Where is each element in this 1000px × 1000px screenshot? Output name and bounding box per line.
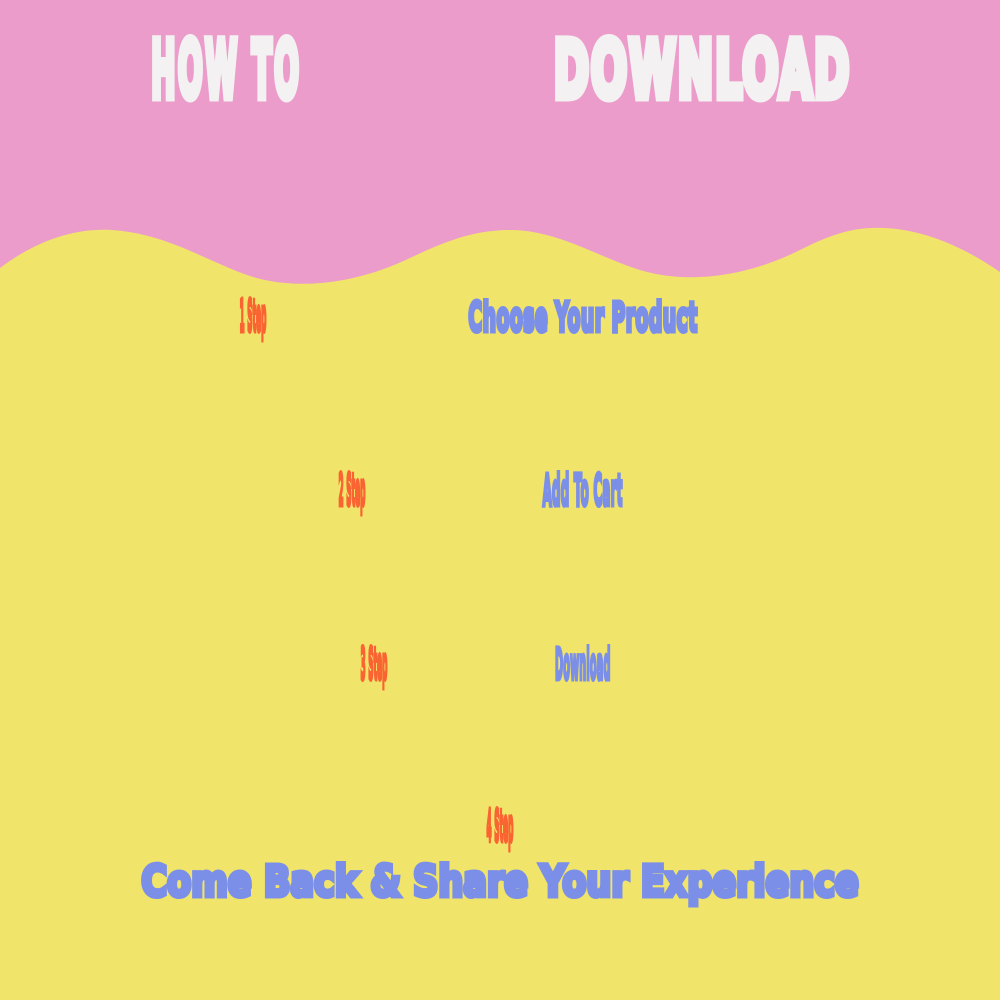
step-2-number: 2 Step: [338, 469, 365, 513]
step-item-4: 4 Step Come Back & Share Your Experience: [0, 805, 1000, 904]
step-4-description: Come Back & Share Your Experience: [141, 861, 858, 904]
step-item-3: 3 Step Download: [0, 632, 1000, 687]
step-2-description: Add To Cart: [542, 470, 622, 513]
step-3-number: 3 Step: [360, 643, 387, 687]
poster-canvas: HOW TO DOWNLOAD 1 Step Choose Your Produ…: [0, 0, 1000, 1000]
step-1-description: Choose Your Product: [468, 298, 697, 338]
step-1-number: 1 Step: [240, 295, 267, 339]
step-item-2: 2 Step Add To Cart: [0, 458, 1000, 513]
step-item-1: 1 Step Choose Your Product: [0, 286, 1000, 339]
step-3-description: Download: [555, 644, 611, 687]
step-4-number: 4 Step: [487, 805, 514, 849]
steps-list: 1 Step Choose Your Product 2 Step Add To…: [0, 0, 1000, 1000]
